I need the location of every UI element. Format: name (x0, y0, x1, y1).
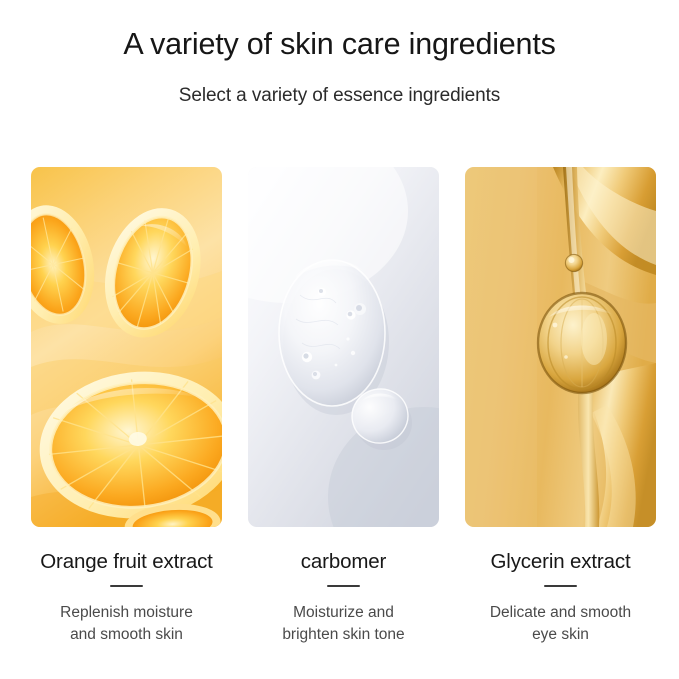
page-title: A variety of skin care ingredients (0, 26, 679, 63)
ingredient-card[interactable]: Glycerin extract Delicate and smooth eye… (465, 167, 656, 646)
ingredient-card-row: Orange fruit extract Replenish moisture … (31, 167, 656, 646)
ingredient-card[interactable]: carbomer Moisturize and brighten skin to… (248, 167, 439, 646)
card-title: Orange fruit extract (40, 527, 212, 574)
ingredients-page: A variety of skin care ingredients Selec… (0, 0, 679, 679)
card-title: Glycerin extract (491, 527, 631, 574)
orange-slices-in-juice-photo (31, 167, 222, 527)
golden-glycerin-oil-bubble-photo (465, 167, 656, 527)
card-description: Delicate and smooth eye skin (468, 587, 653, 646)
card-description: Replenish moisture and smooth skin (34, 587, 219, 646)
clear-gel-droplet-photo (248, 167, 439, 527)
page-header: A variety of skin care ingredients Selec… (0, 0, 679, 107)
card-description: Moisturize and brighten skin tone (251, 587, 436, 646)
ingredient-card[interactable]: Orange fruit extract Replenish moisture … (31, 167, 222, 646)
page-subtitle: Select a variety of essence ingredients (0, 63, 679, 107)
card-title: carbomer (301, 527, 386, 574)
